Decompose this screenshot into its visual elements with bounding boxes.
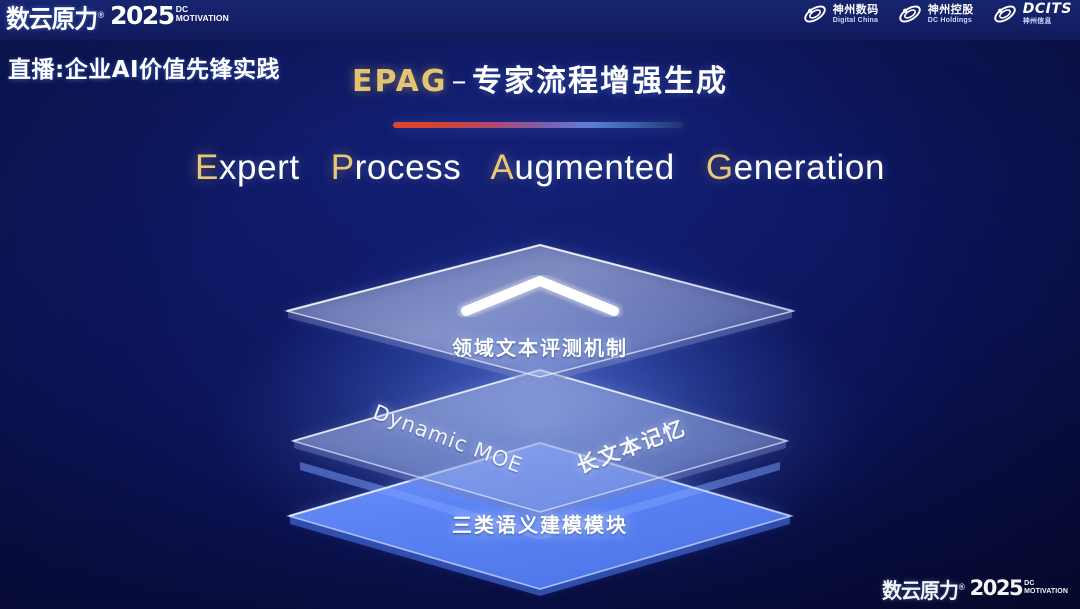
brand-name-cn: 神州控股	[928, 4, 974, 15]
page-subtitle: Expert Process Augmented Generation	[0, 148, 1080, 188]
registered-mark: ®	[97, 11, 104, 21]
subtitle-word: Generation	[706, 148, 885, 187]
subtitle-cap: G	[706, 148, 734, 187]
watermark-logo-cn-text: 数云原力	[882, 579, 958, 603]
subtitle-word: Expert	[195, 148, 300, 187]
swoosh-logo-icon	[897, 3, 923, 25]
title-divider	[393, 122, 683, 128]
brand-dc-holdings: 神州控股 DC Holdings	[897, 3, 974, 25]
subtitle-rest: xpert	[219, 148, 300, 187]
brand-dcits-text: DCITS 神州信息	[1023, 2, 1072, 25]
event-logo-year: 2025	[110, 2, 174, 30]
brand-logo-bar: 神州数码 Digital China 神州控股 DC Holdings	[802, 2, 1072, 25]
brand-name-cn: 神州数码	[833, 4, 879, 15]
subtitle-cap: E	[195, 148, 219, 187]
page-title-abbrev: EPAG	[352, 64, 448, 99]
subtitle-word: Process	[331, 148, 462, 187]
registered-mark: ®	[958, 583, 965, 593]
watermark-logo-dc: DC MOTIVATION	[1024, 577, 1068, 595]
watermark-logo-dc-line2: MOTIVATION	[1024, 588, 1068, 596]
brand-name-cn: 神州信息	[1023, 18, 1072, 25]
event-logo-dc: DC MOTIVATION	[176, 2, 229, 22]
brand-name-en: DCITS	[1023, 2, 1072, 16]
brand-digital-china-text: 神州数码 Digital China	[833, 4, 879, 24]
layer-bottom-label: 三类语义建模模块	[0, 509, 1080, 538]
subtitle-rest: ugmented	[514, 148, 674, 187]
event-logo: 数云原力® 2025 DC MOTIVATION	[6, 2, 229, 32]
page-title-dash: –	[452, 64, 469, 99]
subtitle-rest: eneration	[734, 148, 885, 187]
page-title-chinese: 专家流程增强生成	[472, 64, 728, 99]
brand-dcits: DCITS 神州信息	[992, 2, 1072, 25]
event-logo-cn-text: 数云原力	[6, 4, 97, 33]
event-logo-cn: 数云原力®	[6, 2, 104, 33]
watermark-logo-year: 2025	[970, 577, 1022, 600]
live-stream-title: 直播:企业AI价值先锋实践	[8, 50, 280, 84]
watermark-logo-cn: 数云原力®	[882, 577, 965, 603]
subtitle-cap: A	[490, 148, 514, 187]
subtitle-word: Augmented	[490, 148, 674, 187]
brand-name-en: DC Holdings	[928, 17, 974, 24]
swoosh-logo-icon	[802, 3, 828, 25]
footer-watermark-logo: 数云原力® 2025 DC MOTIVATION	[882, 577, 1068, 603]
swoosh-logo-icon	[992, 3, 1018, 25]
brand-digital-china: 神州数码 Digital China	[802, 3, 879, 25]
brand-dc-holdings-text: 神州控股 DC Holdings	[928, 4, 974, 24]
brand-name-en: Digital China	[833, 17, 879, 24]
subtitle-rest: rocess	[355, 148, 462, 187]
layer-top-label: 领域文本评测机制	[0, 332, 1080, 361]
slide-canvas: 领域文本评测机制 Dynamic MOE 长文本记忆 三类语义建模模块 EPAG…	[0, 0, 1080, 609]
watermark-logo-dc-line1: DC	[1024, 580, 1068, 588]
subtitle-cap: P	[331, 148, 355, 187]
event-logo-dc-line2: MOTIVATION	[176, 14, 229, 23]
